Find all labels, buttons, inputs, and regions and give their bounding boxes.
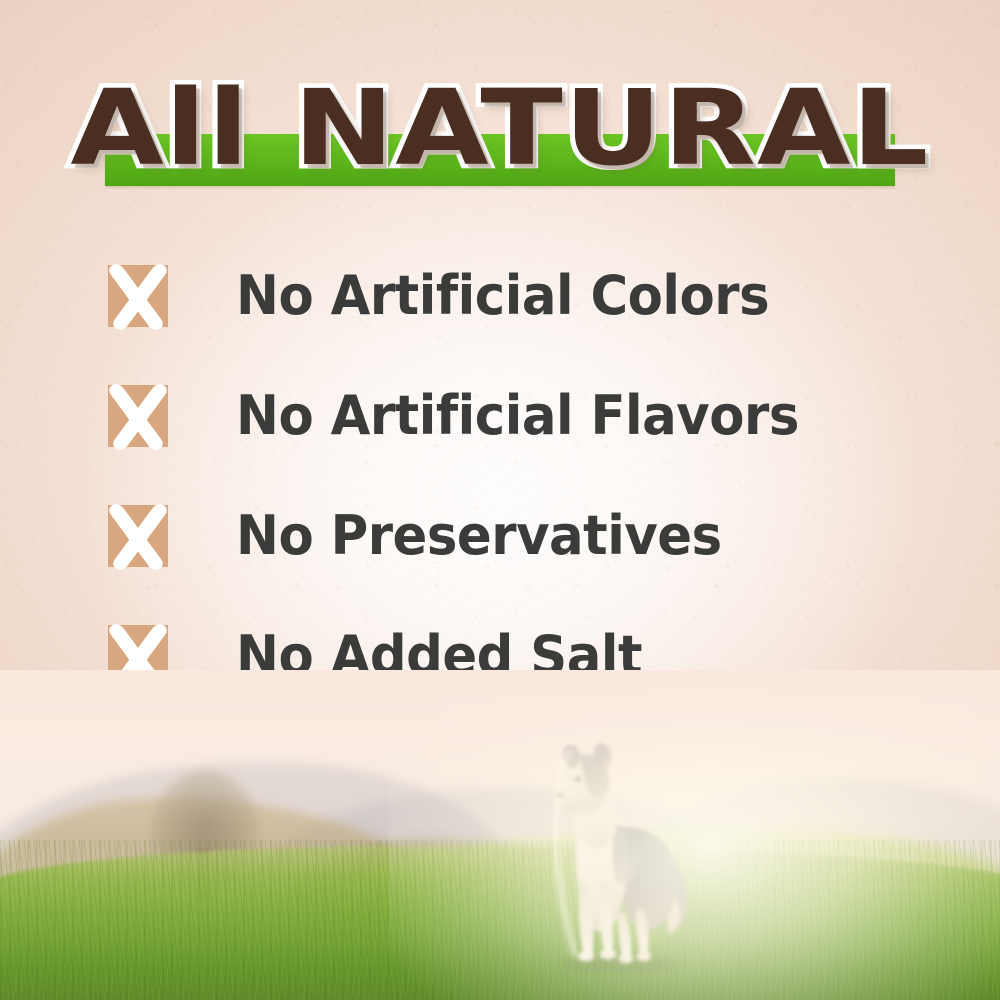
x-mark-icon [103,379,173,453]
x-mark-icon [103,499,173,573]
list-item-label: No Preservatives [236,498,722,574]
page-title: All NATURAL [0,72,1000,184]
list-item-label: No Artificial Flavors [236,378,799,454]
border-collie-silhouette [524,732,714,982]
checkbox-square [108,265,168,327]
x-mark-icon [103,259,173,333]
list-item: No Preservatives [108,498,938,618]
all-natural-poster: All NATURAL No Artificial Colors No Arti… [0,0,1000,1000]
checkbox-square [108,505,168,567]
list-item: No Artificial Colors [108,258,938,378]
list-item-label: No Artificial Colors [236,258,769,334]
checkbox-square [108,385,168,447]
headline-block: All NATURAL [0,72,1000,196]
dog-photo-subject [524,732,714,982]
benefits-list: No Artificial Colors No Artificial Flavo… [108,258,938,738]
list-item: No Artificial Flavors [108,378,938,498]
grass-blade-texture [0,840,1000,1000]
landscape-photo [0,670,1000,1000]
